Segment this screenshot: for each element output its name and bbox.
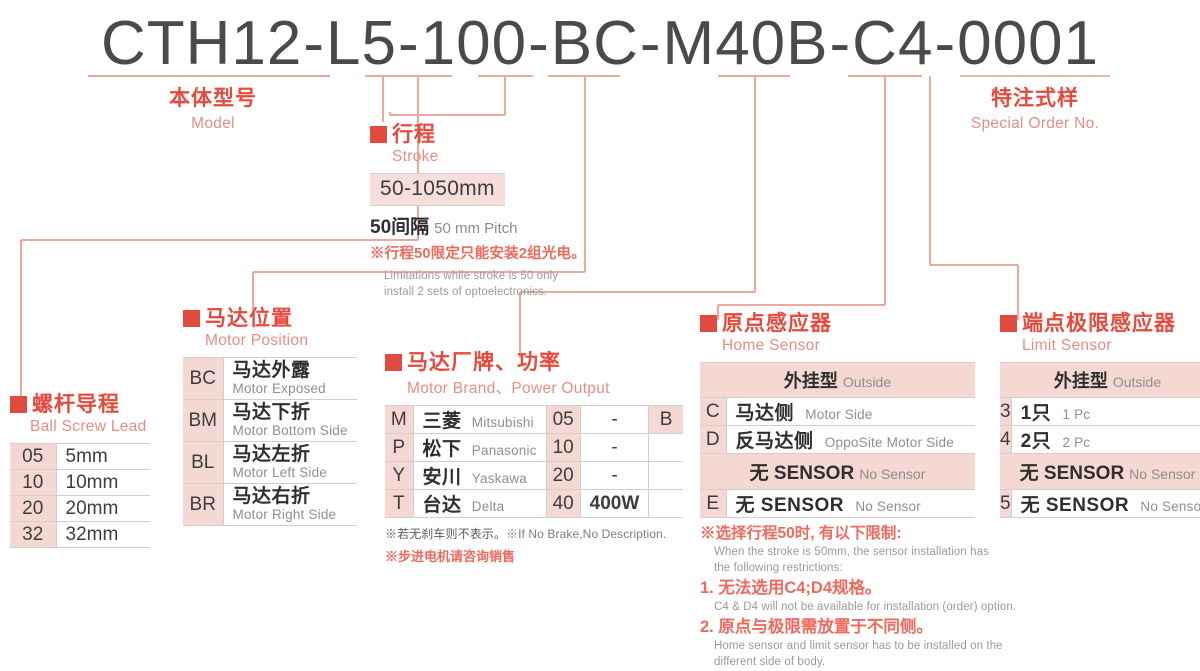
- brake-code: [649, 462, 683, 490]
- home-sensor-table: 外挂型Outside C 马达侧 Motor Side D 反马达侧 OppoS…: [700, 362, 975, 518]
- home-sensor-note-2-en-line2: different side of body.: [700, 654, 1016, 670]
- power-code: 10: [546, 434, 580, 462]
- lead-value: 5mm: [56, 444, 150, 470]
- brand-name-en: Delta: [472, 499, 505, 514]
- stroke-note-en-line2: install 2 sets of optoelectronics.: [370, 284, 586, 300]
- code-segment-motor-brand: M40B: [663, 9, 829, 78]
- lead-code: 05: [10, 444, 56, 470]
- group-model-title-cn: 本体型号: [118, 82, 308, 112]
- home-sensor-code: C: [700, 398, 726, 426]
- motor-position-table: BC 马达外露 Motor Exposed BM 马达下折 Motor Bott…: [183, 357, 357, 526]
- group-ball-screw-lead-title-en: Ball Screw Lead: [30, 418, 150, 436]
- group-special-order-title-en: Special Order No.: [930, 115, 1140, 133]
- power-code: 05: [546, 406, 580, 434]
- motor-position-code: BR: [183, 484, 223, 526]
- table-row: 4 2只 2 Pc: [1000, 426, 1200, 454]
- brand-code: Y: [385, 462, 413, 490]
- power-code: 40: [546, 490, 580, 518]
- power-value: -: [580, 434, 649, 462]
- stroke-pitch: 50间隔50 mm Pitch: [370, 212, 586, 239]
- code-segment-motor-position: BC: [551, 9, 639, 78]
- home-sensor-desc: 无 SENSOR No Sensor: [726, 490, 975, 518]
- group-home-sensor-title-en: Home Sensor: [722, 337, 1016, 355]
- table-row-header-nosensor: 无 SENSORNo Sensor: [1000, 454, 1200, 490]
- limit-sensor-band-outside: 外挂型Outside: [1000, 363, 1200, 398]
- home-sensor-note-header-cn: ※选择行程50时, 有以下限制:: [700, 524, 1016, 544]
- home-sensor-desc-cn: 马达侧: [736, 403, 795, 424]
- home-sensor-code: D: [700, 426, 726, 454]
- brand-name: 安川 Yaskawa: [413, 462, 546, 490]
- home-sensor-table-body: 外挂型Outside C 马达侧 Motor Side D 反马达侧 OppoS…: [700, 363, 975, 518]
- power-value: -: [580, 462, 649, 490]
- power-value: 400W: [580, 490, 649, 518]
- brand-name: 台达 Delta: [413, 490, 546, 518]
- group-limit-sensor: 端点极限感应器 Limit Sensor 外挂型Outside 3 1只 1 P…: [1000, 313, 1200, 518]
- product-code: CTH12-L5-100-BC-M40B-C4-0001: [0, 8, 1200, 79]
- table-row: 20 20mm: [10, 496, 150, 522]
- group-motor-position-title: 马达位置: [183, 308, 357, 329]
- limit-sensor-band-outside-cn: 外挂型: [1054, 371, 1108, 391]
- lead-value: 20mm: [56, 496, 150, 522]
- group-motor-brand-title-cn: 马达厂牌、功率: [407, 352, 561, 373]
- home-sensor-band-outside-cn: 外挂型: [784, 371, 838, 391]
- limit-sensor-desc: 无 SENSOR No Sensor: [1011, 490, 1200, 518]
- motor-position-desc: 马达下折 Motor Bottom Side: [223, 400, 357, 442]
- lead-code: 10: [10, 470, 56, 496]
- home-sensor-band-nosensor: 无 SENSORNo Sensor: [700, 454, 975, 490]
- code-segment-special-order: 0001: [957, 9, 1099, 78]
- group-stroke-title-en: Stroke: [392, 148, 586, 166]
- table-row: BM 马达下折 Motor Bottom Side: [183, 400, 357, 442]
- table-row: T 台达 Delta 40 400W: [385, 490, 683, 518]
- table-row: 3 1只 1 Pc: [1000, 398, 1200, 426]
- ball-screw-lead-table-body: 05 5mm 10 10mm 20 20mm 32 32mm: [10, 444, 150, 548]
- motor-brand-table-body: M 三菱 Mitsubishi 05 - B P 松下 Panasonic 10…: [385, 406, 683, 518]
- home-sensor-band-nosensor-en: No Sensor: [859, 466, 925, 482]
- code-segment-model: CTH12: [101, 9, 302, 78]
- group-stroke-title-cn: 行程: [392, 124, 436, 145]
- home-sensor-note-1-en: C4 & D4 will not be available for instal…: [700, 599, 1016, 615]
- table-row: P 松下 Panasonic 10 -: [385, 434, 683, 462]
- group-stroke-title: 行程: [370, 124, 586, 145]
- brand-name-cn: 台达: [423, 495, 462, 516]
- home-sensor-note-header-en-line2: the following restrictions:: [700, 560, 1016, 576]
- limit-sensor-table: 外挂型Outside 3 1只 1 Pc 4 2只 2 Pc 无 SENSO: [1000, 362, 1200, 518]
- group-home-sensor: 原点感应器 Home Sensor 外挂型Outside C 马达侧 Motor…: [700, 313, 1016, 671]
- home-sensor-desc: 马达侧 Motor Side: [726, 398, 975, 426]
- motor-position-desc: 马达外露 Motor Exposed: [223, 358, 357, 400]
- home-sensor-desc-en: No Sensor: [855, 499, 921, 514]
- home-sensor-desc-cn: 无 SENSOR: [736, 495, 845, 516]
- lead-value: 32mm: [56, 522, 150, 548]
- motor-brand-note-1: ※若无刹车则不表示。※If No Brake,No Description.: [385, 525, 683, 542]
- brand-name-cn: 安川: [423, 467, 462, 488]
- limit-sensor-code: 5: [1000, 490, 1011, 518]
- brand-name-cn: 三菱: [423, 411, 462, 432]
- table-row-header-nosensor: 无 SENSORNo Sensor: [700, 454, 975, 490]
- bullet-square-icon: [1000, 315, 1017, 332]
- brand-code: M: [385, 406, 413, 434]
- group-limit-sensor-title-en: Limit Sensor: [1022, 337, 1200, 355]
- limit-sensor-desc: 2只 2 Pc: [1011, 426, 1200, 454]
- motor-brand-table: M 三菱 Mitsubishi 05 - B P 松下 Panasonic 10…: [385, 405, 683, 518]
- limit-sensor-desc-en: 1 Pc: [1062, 407, 1090, 422]
- limit-sensor-table-body: 外挂型Outside 3 1只 1 Pc 4 2只 2 Pc 无 SENSO: [1000, 363, 1200, 518]
- motor-position-desc-cn: 马达左折: [233, 445, 348, 466]
- code-segment-stroke: 100: [421, 9, 527, 78]
- group-stroke: 行程 Stroke 50-1050mm 50间隔50 mm Pitch ※行程5…: [370, 124, 586, 300]
- code-segment-home-sensor: C4: [852, 9, 933, 78]
- brand-name-en: Panasonic: [472, 443, 537, 458]
- table-row: BC 马达外露 Motor Exposed: [183, 358, 357, 400]
- bullet-square-icon: [370, 126, 387, 143]
- stroke-note-cn: ※行程50限定只能安装2组光电。: [370, 245, 586, 265]
- group-special-order: 特注式样 Special Order No.: [930, 82, 1140, 133]
- bullet-square-icon: [10, 396, 27, 413]
- limit-sensor-band-nosensor-cn: 无 SENSOR: [1020, 463, 1125, 484]
- table-row-header-outside: 外挂型Outside: [700, 363, 975, 398]
- motor-position-code: BC: [183, 358, 223, 400]
- limit-sensor-band-nosensor-en: No Sensor: [1129, 466, 1195, 482]
- group-motor-position-title-en: Motor Position: [205, 332, 357, 350]
- code-separator: -: [397, 9, 421, 78]
- home-sensor-band-outside: 外挂型Outside: [700, 363, 975, 398]
- table-row: 32 32mm: [10, 522, 150, 548]
- code-separator: -: [933, 9, 957, 78]
- group-model-title-en: Model: [118, 115, 308, 133]
- motor-position-desc-en: Motor Bottom Side: [233, 424, 348, 439]
- motor-position-code: BL: [183, 442, 223, 484]
- motor-position-desc: 马达左折 Motor Left Side: [223, 442, 357, 484]
- group-motor-brand: 马达厂牌、功率 Motor Brand、Power Output M 三菱 Mi…: [385, 352, 683, 565]
- bullet-square-icon: [700, 315, 717, 332]
- stroke-pitch-en: 50 mm Pitch: [434, 220, 517, 237]
- table-row: BR 马达右折 Motor Right Side: [183, 484, 357, 526]
- code-segment-lead: L5: [326, 9, 397, 78]
- group-limit-sensor-title-cn: 端点极限感应器: [1022, 313, 1176, 334]
- brand-name: 三菱 Mitsubishi: [413, 406, 546, 434]
- motor-position-desc-cn: 马达外露: [233, 361, 348, 382]
- brand-code: T: [385, 490, 413, 518]
- group-home-sensor-title: 原点感应器: [700, 313, 1016, 334]
- limit-sensor-desc-cn: 2只: [1021, 431, 1052, 452]
- motor-position-desc-en: Motor Right Side: [233, 508, 348, 523]
- motor-position-desc-en: Motor Left Side: [233, 466, 348, 481]
- limit-sensor-band-outside-en: Outside: [1113, 374, 1161, 390]
- lead-code: 32: [10, 522, 56, 548]
- bullet-square-icon: [183, 310, 200, 327]
- brake-code: B: [649, 406, 683, 434]
- home-sensor-band-outside-en: Outside: [843, 374, 891, 390]
- code-separator: -: [639, 9, 663, 78]
- ball-screw-lead-table: 05 5mm 10 10mm 20 20mm 32 32mm: [10, 443, 150, 548]
- home-sensor-desc-en: OppoSite Motor Side: [825, 435, 954, 450]
- motor-brand-note-2: ※步进电机请咨询销售: [385, 546, 683, 565]
- group-model: 本体型号 Model: [118, 82, 308, 133]
- table-row: D 反马达侧 OppoSite Motor Side: [700, 426, 975, 454]
- lead-code: 20: [10, 496, 56, 522]
- code-separator: -: [302, 9, 326, 78]
- motor-position-desc: 马达右折 Motor Right Side: [223, 484, 357, 526]
- motor-position-desc-en: Motor Exposed: [233, 382, 348, 397]
- group-ball-screw-lead-title-cn: 螺杆导程: [32, 394, 120, 415]
- lead-value: 10mm: [56, 470, 150, 496]
- group-ball-screw-lead: 螺杆导程 Ball Screw Lead 05 5mm 10 10mm 20 2…: [10, 394, 150, 548]
- group-limit-sensor-title: 端点极限感应器: [1000, 313, 1200, 334]
- table-row: E 无 SENSOR No Sensor: [700, 490, 975, 518]
- table-row: C 马达侧 Motor Side: [700, 398, 975, 426]
- stroke-pitch-cn: 50间隔: [370, 217, 429, 238]
- limit-sensor-desc-en: No Sensor: [1140, 499, 1200, 514]
- power-value: -: [580, 406, 649, 434]
- group-motor-position: 马达位置 Motor Position BC 马达外露 Motor Expose…: [183, 308, 357, 526]
- table-row: 10 10mm: [10, 470, 150, 496]
- home-sensor-code: E: [700, 490, 726, 518]
- motor-position-code: BM: [183, 400, 223, 442]
- table-row: BL 马达左折 Motor Left Side: [183, 442, 357, 484]
- home-sensor-notes: ※选择行程50时, 有以下限制: When the stroke is 50mm…: [700, 524, 1016, 671]
- home-sensor-desc-cn: 反马达侧: [736, 431, 814, 452]
- brand-name-en: Yaskawa: [472, 471, 527, 486]
- group-ball-screw-lead-title: 螺杆导程: [10, 394, 150, 415]
- home-sensor-desc-en: Motor Side: [805, 407, 872, 422]
- brand-name: 松下 Panasonic: [413, 434, 546, 462]
- power-code: 20: [546, 462, 580, 490]
- stroke-note-en-line1: Limitations while stroke is 50 only: [370, 268, 586, 284]
- group-motor-brand-title-en: Motor Brand、Power Output: [407, 376, 683, 398]
- limit-sensor-code: 3: [1000, 398, 1011, 426]
- code-separator: -: [527, 9, 551, 78]
- bullet-square-icon: [385, 354, 402, 371]
- group-motor-brand-title: 马达厂牌、功率: [385, 352, 683, 373]
- brand-name-en: Mitsubishi: [472, 415, 534, 430]
- limit-sensor-code: 4: [1000, 426, 1011, 454]
- home-sensor-note-2-cn: 2. 原点与极限需放置于不同侧。: [700, 617, 1016, 638]
- group-special-order-title-cn: 特注式样: [930, 82, 1140, 112]
- table-row-header-outside: 外挂型Outside: [1000, 363, 1200, 398]
- motor-position-desc-cn: 马达右折: [233, 487, 348, 508]
- home-sensor-band-nosensor-cn: 无 SENSOR: [750, 463, 855, 484]
- brake-code: [649, 490, 683, 518]
- brand-code: P: [385, 434, 413, 462]
- limit-sensor-desc-cn: 1只: [1021, 403, 1052, 424]
- code-separator: -: [829, 9, 853, 78]
- group-motor-position-title-cn: 马达位置: [205, 308, 293, 329]
- motor-brand-note-1-en: ※If No Brake,No Description.: [506, 527, 666, 541]
- home-sensor-note-1-cn: 1. 无法选用C4;D4规格。: [700, 578, 1016, 599]
- home-sensor-note-2-en-line1: Home sensor and limit sensor has to be i…: [700, 638, 1016, 654]
- table-row: Y 安川 Yaskawa 20 -: [385, 462, 683, 490]
- table-row: M 三菱 Mitsubishi 05 - B: [385, 406, 683, 434]
- home-sensor-desc: 反马达侧 OppoSite Motor Side: [726, 426, 975, 454]
- motor-brand-note-1-cn: ※若无刹车则不表示。: [385, 527, 506, 541]
- limit-sensor-band-nosensor: 无 SENSORNo Sensor: [1000, 454, 1200, 490]
- limit-sensor-desc: 1只 1 Pc: [1011, 398, 1200, 426]
- brake-code: [649, 434, 683, 462]
- limit-sensor-desc-en: 2 Pc: [1062, 435, 1090, 450]
- table-row: 05 5mm: [10, 444, 150, 470]
- motor-position-table-body: BC 马达外露 Motor Exposed BM 马达下折 Motor Bott…: [183, 358, 357, 526]
- group-home-sensor-title-cn: 原点感应器: [722, 313, 832, 334]
- brand-name-cn: 松下: [423, 439, 462, 460]
- limit-sensor-desc-cn: 无 SENSOR: [1021, 495, 1130, 516]
- home-sensor-note-header-en-line1: When the stroke is 50mm, the sensor inst…: [700, 544, 1016, 560]
- stroke-range-value: 50-1050mm: [370, 173, 505, 206]
- motor-position-desc-cn: 马达下折: [233, 403, 348, 424]
- table-row: 5 无 SENSOR No Sensor: [1000, 490, 1200, 518]
